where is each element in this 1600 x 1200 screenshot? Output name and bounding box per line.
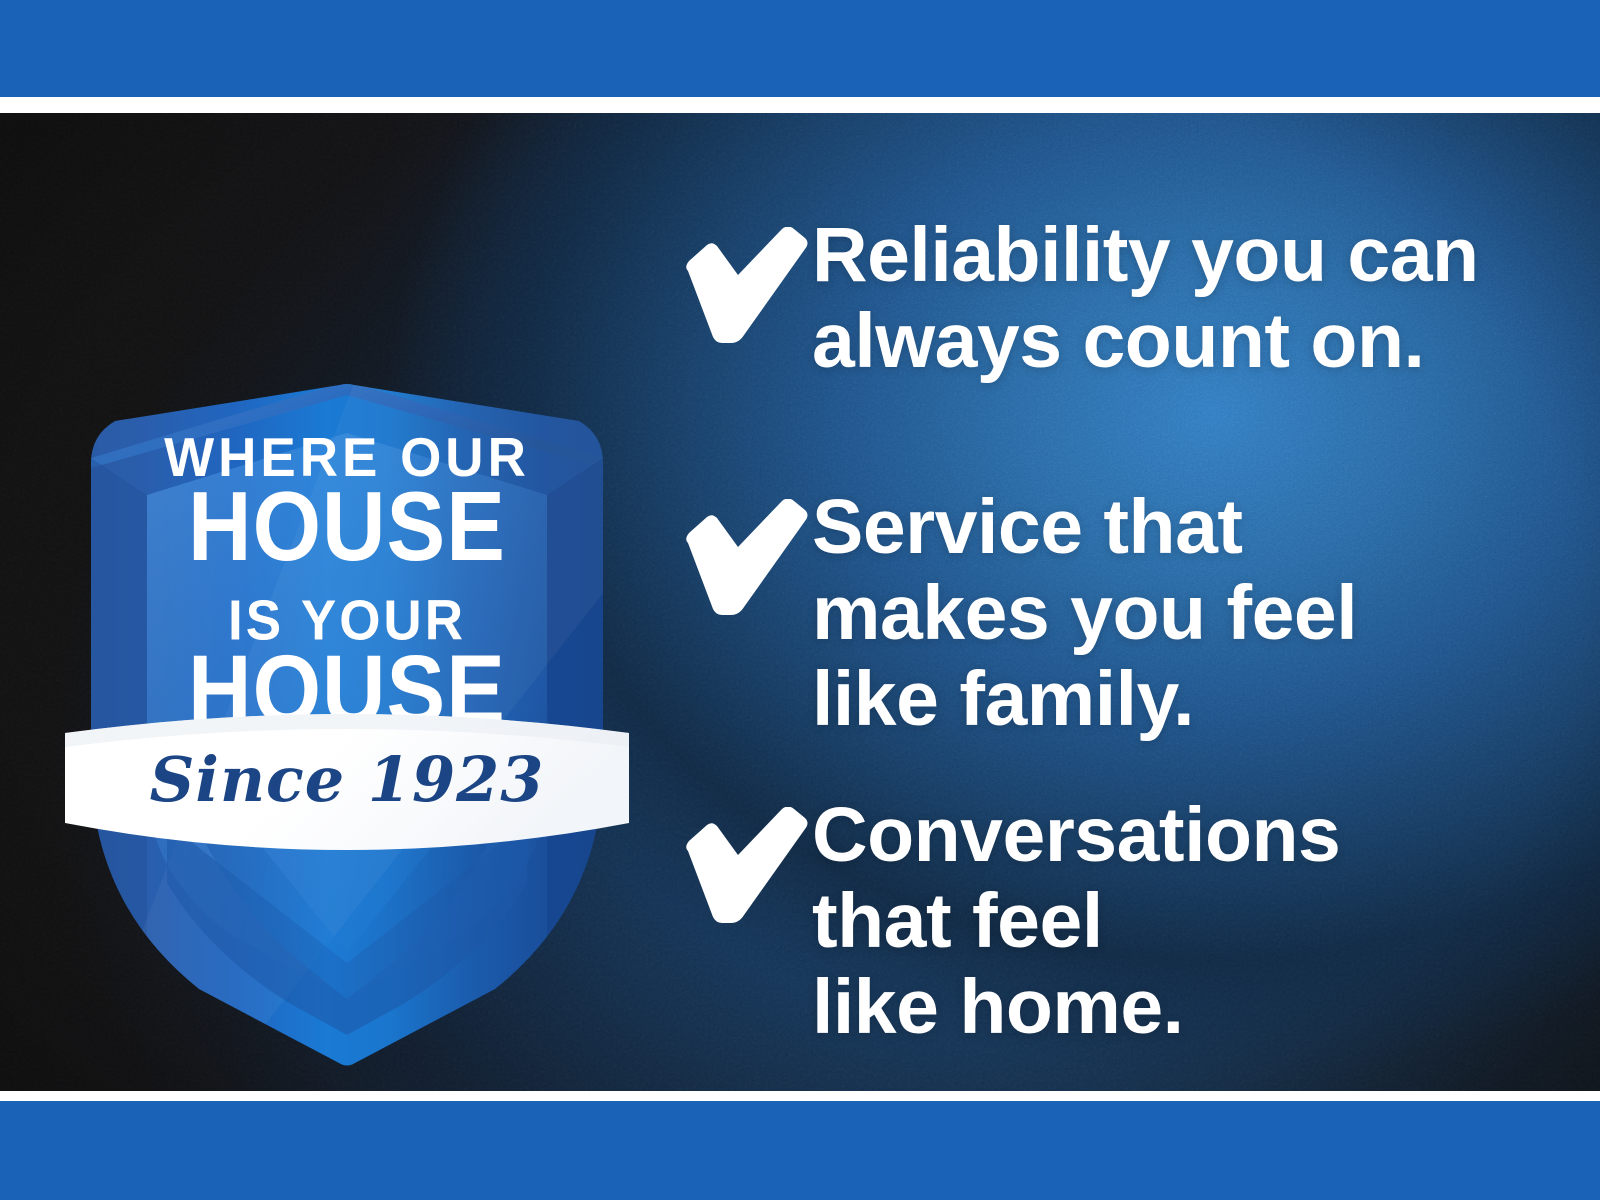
logo-ribbon: Since 1923 — [65, 714, 629, 850]
list-item-label: Conversations that feel like home. — [812, 793, 1340, 1051]
checkmark-icon — [672, 807, 812, 932]
list-item-label: Reliability you can always count on. — [812, 213, 1479, 385]
main-panel: WHERE OUR HOUSE IS YOUR HOUSE Since 1923 — [0, 113, 1600, 1091]
promo-graphic: WHERE OUR HOUSE IS YOUR HOUSE Since 1923 — [0, 0, 1600, 1200]
brand-bar-bottom — [0, 1101, 1600, 1200]
checkmark-icon — [672, 499, 812, 624]
brand-bar-top — [0, 0, 1600, 97]
divider-bottom — [0, 1091, 1600, 1101]
logo-line-2: HOUSE — [188, 470, 506, 581]
ribbon-text: Since 1923 — [150, 743, 545, 816]
list-item-label: Service that makes you feel like family. — [812, 485, 1357, 743]
divider-top — [0, 97, 1600, 113]
logo-shield: WHERE OUR HOUSE IS YOUR HOUSE Since 1923 — [55, 263, 635, 1083]
checkmark-icon — [672, 227, 812, 352]
list-item: Conversations that feel like home. — [672, 793, 1340, 1051]
list-item: Service that makes you feel like family. — [672, 485, 1357, 743]
list-item: Reliability you can always count on. — [672, 213, 1479, 385]
